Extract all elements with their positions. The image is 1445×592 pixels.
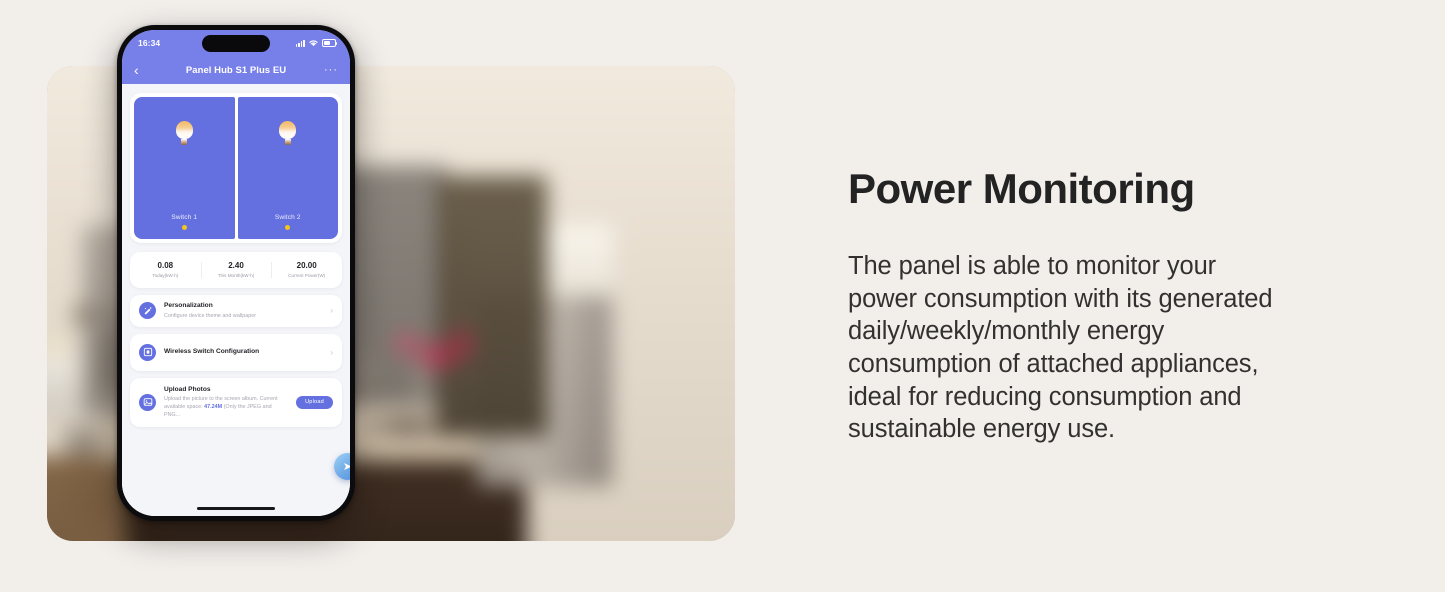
status-bar-time: 16:34: [138, 38, 160, 48]
light-bulb-icon: [279, 121, 296, 145]
list-item-wireless-switch-configuration-title: Wireless Switch Configuration: [164, 348, 324, 357]
magic-wand-icon: [139, 302, 156, 319]
dynamic-island: [202, 35, 270, 52]
status-bar-icons: [296, 34, 336, 52]
back-icon[interactable]: ‹: [134, 63, 156, 77]
app-nav-bar: ‹ Panel Hub S1 Plus EU ···: [122, 56, 350, 84]
image-icon: [139, 394, 156, 411]
stat-current-power-value: 20.00: [271, 261, 342, 271]
phone-mockup: 16:34 ‹ Panel Hub S1 Plus EU ···: [117, 25, 355, 521]
switch-tile-2-label: Switch 2: [275, 214, 301, 221]
upload-photos-description: Upload the picture to the screen album. …: [164, 395, 289, 419]
cellular-signal-icon: [296, 39, 305, 47]
switch-tile-2-status-dot: [285, 225, 290, 230]
switch-panel-icon: [139, 344, 156, 361]
stat-today-value: 0.08: [130, 261, 201, 271]
switch-tile-1-label: Switch 1: [171, 214, 197, 221]
upload-photos-text: Upload Photos Upload the picture to the …: [164, 386, 289, 420]
list-item-wireless-switch-configuration[interactable]: Wireless Switch Configuration ›: [130, 334, 342, 371]
power-stats-card: 0.08 Today(kW·h) 2.40 This Month(kW·h) 2…: [130, 252, 342, 288]
stat-this-month-label: This Month(kW·h): [201, 273, 272, 279]
battery-icon: [322, 39, 336, 47]
list-item-wireless-switch-configuration-text: Wireless Switch Configuration: [164, 348, 324, 357]
chevron-right-icon: ›: [330, 348, 333, 357]
upload-button[interactable]: Upload: [296, 396, 333, 409]
stat-current-power: 20.00 Current Power(W): [271, 261, 342, 278]
stat-this-month: 2.40 This Month(kW·h): [201, 261, 272, 278]
marketing-copy: Power Monitoring The panel is able to mo…: [848, 168, 1278, 446]
tile-divider: [235, 97, 236, 239]
stat-current-power-label: Current Power(W): [271, 273, 342, 279]
upload-available-space: 47.24M: [204, 404, 222, 410]
app-content: Switch 1 Switch 2: [122, 84, 350, 516]
list-item-personalization-subtitle: Configure device theme and wallpaper: [164, 313, 324, 320]
home-indicator[interactable]: [197, 507, 275, 511]
switch-tile-1-status-dot: [182, 225, 187, 230]
list-item-personalization-title: Personalization: [164, 302, 324, 311]
more-options-icon[interactable]: ···: [316, 64, 338, 76]
light-bulb-icon: [176, 121, 193, 145]
headline: Power Monitoring: [848, 168, 1278, 210]
switch-panel: Switch 1 Switch 2: [130, 93, 342, 243]
switch-tile-1[interactable]: Switch 1: [134, 97, 235, 239]
page-title: Panel Hub S1 Plus EU: [156, 65, 316, 76]
list-item-personalization-text: Personalization Configure device theme a…: [164, 302, 324, 320]
stat-today: 0.08 Today(kW·h): [130, 261, 201, 278]
stat-this-month-value: 2.40: [201, 261, 272, 271]
wifi-icon: [308, 34, 319, 52]
phone-screen: 16:34 ‹ Panel Hub S1 Plus EU ···: [122, 30, 350, 516]
upload-photos-title: Upload Photos: [164, 386, 289, 393]
list-item-personalization[interactable]: Personalization Configure device theme a…: [130, 295, 342, 327]
send-icon[interactable]: ➤: [334, 453, 350, 480]
upload-photos-card: Upload Photos Upload the picture to the …: [130, 378, 342, 428]
chevron-right-icon: ›: [330, 306, 333, 315]
switch-tile-2[interactable]: Switch 2: [238, 97, 339, 239]
body-paragraph: The panel is able to monitor your power …: [848, 250, 1278, 446]
status-bar: 16:34: [122, 30, 350, 56]
stat-today-label: Today(kW·h): [130, 273, 201, 279]
